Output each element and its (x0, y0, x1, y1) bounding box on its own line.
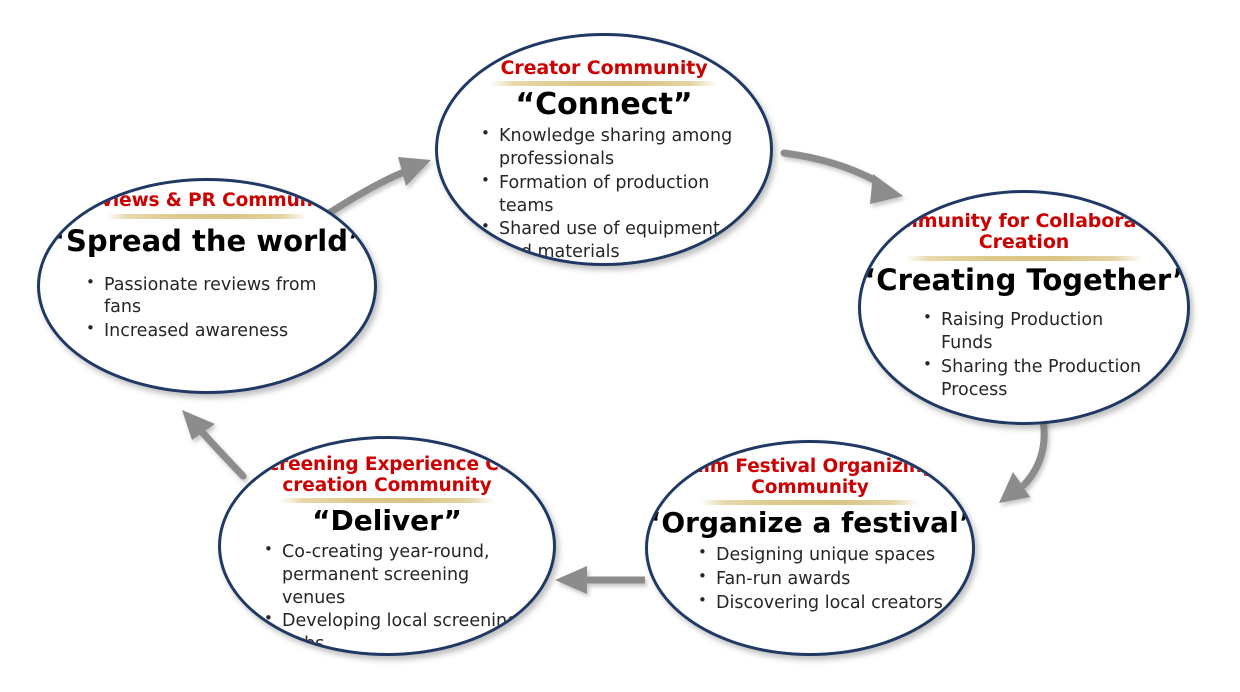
kicker-underline (905, 256, 1143, 261)
bullet-item: Co-creating year-round, permanent screen… (262, 541, 530, 609)
node-kicker: Screening Experience Co- creation Commun… (221, 455, 553, 496)
kicker-underline (107, 214, 307, 219)
diagram-canvas: Creator Community “Connect” Knowledge sh… (0, 0, 1240, 692)
node-headline: “Creating Together” (858, 265, 1190, 297)
bullet-item: Raising Production Funds (921, 309, 1153, 355)
kicker-underline (280, 498, 495, 503)
bullet-item: Developing local screening hubs (262, 610, 530, 656)
node-headline: “Spread the world” (47, 226, 367, 258)
bullet-item: Passionate reviews from fans (84, 274, 352, 320)
node-bullets: Raising Production Funds Sharing the Pro… (921, 309, 1153, 402)
bullet-item: Designing unique spaces (696, 544, 946, 567)
node-headline: “Organize a festival” (645, 508, 975, 539)
node-headline: “Deliver” (312, 506, 462, 537)
arrow-connect-to-creating (784, 153, 903, 204)
node-screening-experience-cocreation-community[interactable]: Screening Experience Co- creation Commun… (218, 436, 556, 656)
node-bullets: Knowledge sharing among professionals Fo… (479, 125, 749, 265)
node-collaborative-creation-community[interactable]: Community for Collaborative Creation “Cr… (858, 190, 1190, 425)
bullet-item: Increased awareness (84, 320, 352, 343)
bullet-item: Fan-run awards (696, 568, 946, 591)
node-bullets: Passionate reviews from fans Increased a… (84, 274, 352, 344)
bullet-item: Formation of production teams (479, 172, 749, 218)
arrow-creating-to-festival (999, 420, 1044, 503)
kicker-underline (701, 500, 919, 505)
node-kicker: Reviews & PR Community (74, 191, 339, 212)
bullet-item: Sharing the Production Process (921, 356, 1153, 402)
node-kicker: Film Festival Organizing Community (648, 457, 972, 498)
node-creator-community[interactable]: Creator Community “Connect” Knowledge sh… (435, 33, 773, 266)
node-headline: “Connect” (515, 88, 692, 121)
node-bullets: Co-creating year-round, permanent screen… (262, 541, 530, 656)
node-reviews-and-pr-community[interactable]: Reviews & PR Community “Spread the world… (37, 178, 377, 394)
bullet-item: Discovering local creators (696, 592, 946, 615)
node-kicker: Community for Collaborative Creation (861, 211, 1187, 254)
arrow-festival-to-deliver (555, 566, 645, 594)
bullet-item: Shared use of equipment and materials (479, 218, 749, 264)
kicker-underline (490, 81, 718, 86)
node-film-festival-organizing-community[interactable]: Film Festival Organizing Community “Orga… (645, 440, 975, 656)
bullet-item: Knowledge sharing among professionals (479, 125, 749, 171)
node-kicker: Creator Community (500, 58, 707, 79)
node-bullets: Designing unique spaces Fan-run awards D… (696, 544, 946, 615)
